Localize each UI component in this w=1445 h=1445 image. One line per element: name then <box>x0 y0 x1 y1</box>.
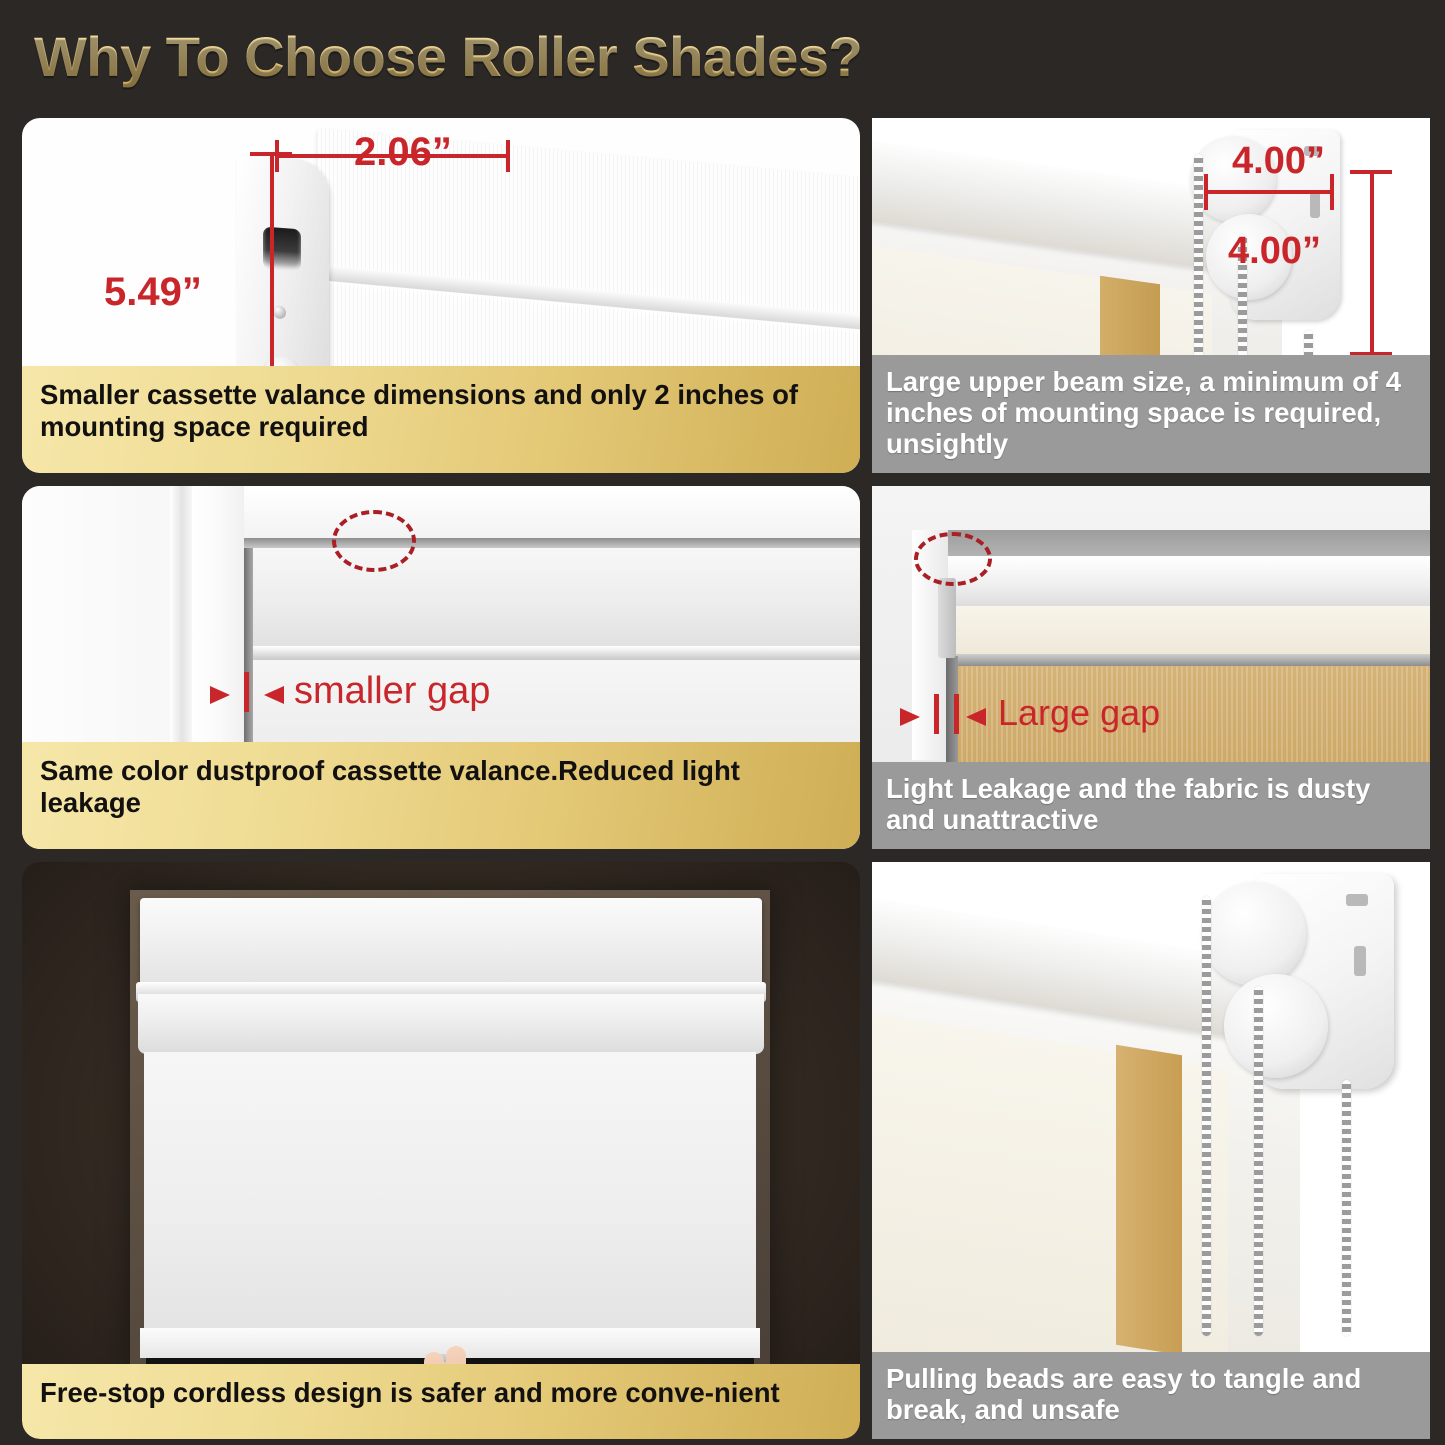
cassette-screw-icon <box>273 305 286 319</box>
gap-arrow-right-icon <box>210 686 230 704</box>
gap-roller-tube <box>948 556 1430 612</box>
beads-disc-upper <box>1202 882 1306 986</box>
panel-pulling-beads: Pulling beads are easy to tangle and bre… <box>872 862 1430 1439</box>
bracket-slot2-icon <box>1354 946 1366 976</box>
highlight-ellipse-icon <box>914 532 992 586</box>
shade-body-fabric <box>144 1052 756 1340</box>
header-bar: Why To Choose Roller Shades? <box>0 0 1445 112</box>
cassette-port-icon <box>263 227 301 272</box>
shade-cassette-head <box>140 898 762 990</box>
gap-arrow-left-icon <box>966 708 986 726</box>
gap-label-smaller: smaller gap <box>294 670 490 713</box>
beam-width-tick-left <box>1204 174 1208 210</box>
bracket-slot-icon <box>1346 894 1368 906</box>
highlight-ellipse-icon <box>332 510 416 572</box>
gap-label-large: Large gap <box>998 692 1160 734</box>
bead-chain-1[interactable] <box>1202 896 1211 1336</box>
beam-width-label: 4.00” <box>1232 140 1325 183</box>
beam-width-line <box>1204 190 1334 194</box>
width-tick-right <box>506 140 510 172</box>
photo-room-window <box>22 862 860 1439</box>
panel-smaller-cassette: 2.06” 5.49” Smaller cassette valance dim… <box>22 118 860 473</box>
beads-disc-lower <box>1224 974 1328 1078</box>
caption-smaller-gap: Same color dustproof cassette valance.Re… <box>22 742 860 849</box>
width-tick-left <box>275 140 279 172</box>
gap-marker-bar <box>244 672 249 712</box>
bracket-slot2-icon <box>1310 192 1320 218</box>
panel-large-beam: 4.00” 4.00” Large upper beam size, a min… <box>872 118 1430 473</box>
beam-height-label: 4.00” <box>1228 230 1321 273</box>
panel-large-gap: Large gap Light Leakage and the fabric i… <box>872 486 1430 849</box>
beads-gold-fabric <box>1116 1045 1182 1355</box>
gap-marker-bar-2 <box>954 694 959 734</box>
caption-large-beam: Large upper beam size, a minimum of 4 in… <box>872 355 1430 473</box>
panel-smaller-gap: smaller gap Same color dustproof cassett… <box>22 486 860 849</box>
gap-bracket-clip <box>938 578 956 658</box>
gap-arrow-left-icon <box>264 686 284 704</box>
caption-large-gap: Light Leakage and the fabric is dusty an… <box>872 762 1430 849</box>
beam-height-tick-top <box>1350 170 1392 174</box>
bead-chain-2[interactable] <box>1254 986 1263 1336</box>
beam-width-tick-right <box>1330 174 1334 210</box>
gap-cream-band <box>952 606 1430 654</box>
beads-bracket <box>1202 874 1402 1104</box>
gap-bottom-rail <box>948 654 1430 666</box>
caption-pulling-beads: Pulling beads are easy to tangle and bre… <box>872 1352 1430 1439</box>
cassette-valance-lip <box>244 646 860 660</box>
width-dimension-label: 2.06” <box>354 130 452 175</box>
height-tick-top <box>250 152 292 156</box>
gap-arrow-right-icon <box>900 708 920 726</box>
shade-roller <box>138 994 764 1054</box>
panel-cordless-design: Free-stop cordless design is safer and m… <box>22 862 860 1439</box>
caption-cordless-design: Free-stop cordless design is safer and m… <box>22 1364 860 1439</box>
bead-chain-3[interactable] <box>1342 1080 1351 1336</box>
beam-height-line <box>1370 172 1374 356</box>
cassette-valance-face <box>244 548 860 646</box>
height-dimension-label: 5.49” <box>104 270 202 315</box>
caption-smaller-cassette: Smaller cassette valance dimensions and … <box>22 366 860 473</box>
gap-marker-bar-1 <box>934 694 939 734</box>
page-title: Why To Choose Roller Shades? <box>0 24 862 89</box>
comparison-grid: 2.06” 5.49” Smaller cassette valance dim… <box>0 112 1445 1445</box>
